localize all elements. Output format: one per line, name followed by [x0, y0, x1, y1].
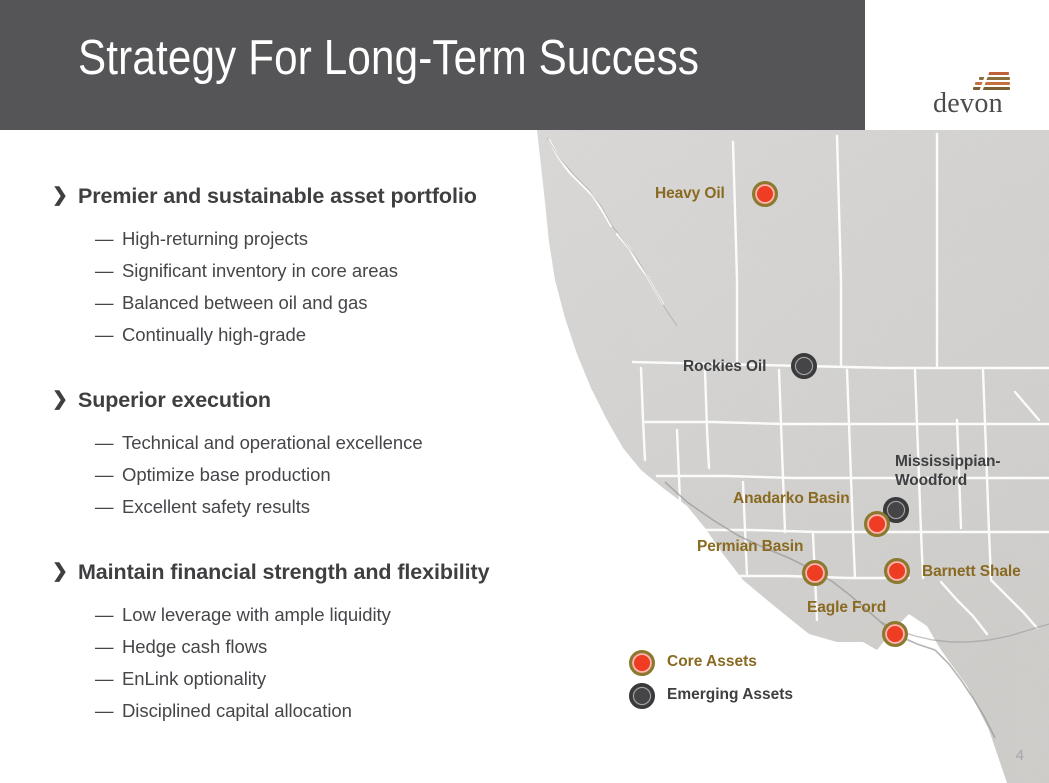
map-marker-heavy-oil[interactable] [752, 181, 778, 207]
list-item-label: Low leverage with ample liquidity [122, 604, 391, 625]
map-label-eagle-ford: Eagle Ford [807, 598, 886, 617]
list-item-label: Hedge cash flows [122, 636, 267, 657]
bullet-sublist: — Low leverage with ample liquidity — He… [0, 599, 545, 727]
asset-map: Heavy Oil Rockies Oil Mississippian- Woo… [537, 130, 1049, 783]
list-item-label: Technical and operational excellence [122, 432, 423, 453]
dash-icon: — [95, 223, 111, 255]
legend-label-core-assets: Core Assets [667, 651, 757, 672]
map-label-permian-basin: Permian Basin [697, 537, 803, 556]
core-asset-marker-icon [629, 650, 655, 676]
emerging-asset-marker-icon [629, 683, 655, 709]
map-marker-eagle-ford[interactable] [882, 621, 908, 647]
map-marker-rockies-oil[interactable] [791, 353, 817, 379]
map-label-barnett-shale: Barnett Shale [922, 562, 1021, 581]
map-label-heavy-oil: Heavy Oil [655, 184, 725, 203]
brand-logo: devon [865, 62, 1049, 130]
bullet-group-superior-execution: ❯ Superior execution — Technical and ope… [0, 386, 545, 523]
bullet-sublist: — Technical and operational excellence —… [0, 427, 545, 523]
list-item-label: Disciplined capital allocation [122, 700, 352, 721]
map-label-woodford: Woodford [895, 471, 967, 490]
dash-icon: — [95, 319, 111, 351]
chevron-right-icon: ❯ [52, 182, 68, 210]
dash-icon: — [95, 459, 111, 491]
dash-icon: — [95, 255, 111, 287]
chevron-right-icon: ❯ [52, 558, 68, 586]
page-number: 4 [1016, 747, 1024, 765]
list-item: — Low leverage with ample liquidity [0, 599, 545, 631]
list-item-label: High-returning projects [122, 228, 308, 249]
dash-icon: — [95, 287, 111, 319]
list-item: — High-returning projects [0, 223, 545, 255]
dash-icon: — [95, 427, 111, 459]
devon-wordmark: devon [933, 88, 1003, 120]
map-label-rockies-oil: Rockies Oil [683, 357, 766, 376]
bullet-content-column: ❯ Premier and sustainable asset portfoli… [0, 130, 545, 783]
map-label-mississippian: Mississippian- [895, 452, 1000, 471]
chevron-right-icon: ❯ [52, 386, 68, 414]
dash-icon: — [95, 631, 111, 663]
list-item: — Hedge cash flows [0, 631, 545, 663]
list-item-label: Balanced between oil and gas [122, 292, 367, 313]
bullet-heading: ❯ Superior execution [0, 386, 545, 414]
list-item-label: EnLink optionality [122, 668, 266, 689]
bullet-heading: ❯ Maintain financial strength and flexib… [0, 558, 545, 586]
list-item-label: Continually high-grade [122, 324, 306, 345]
bullet-heading-text: Superior execution [78, 388, 271, 412]
legend-label-emerging-assets: Emerging Assets [667, 684, 793, 705]
bullet-group-financial-strength: ❯ Maintain financial strength and flexib… [0, 558, 545, 727]
bullet-heading-text: Maintain financial strength and flexibil… [78, 560, 489, 584]
list-item: — Continually high-grade [0, 319, 545, 351]
bullet-group-premier: ❯ Premier and sustainable asset portfoli… [0, 182, 545, 351]
list-item: — EnLink optionality [0, 663, 545, 695]
list-item: — Optimize base production [0, 459, 545, 491]
list-item-label: Excellent safety results [122, 496, 310, 517]
list-item-label: Significant inventory in core areas [122, 260, 398, 281]
list-item: — Significant inventory in core areas [0, 255, 545, 287]
bullet-heading: ❯ Premier and sustainable asset portfoli… [0, 182, 545, 210]
page-title: Strategy For Long-Term Success [78, 27, 699, 89]
list-item: — Excellent safety results [0, 491, 545, 523]
dash-icon: — [95, 491, 111, 523]
list-item: — Balanced between oil and gas [0, 287, 545, 319]
dash-icon: — [95, 663, 111, 695]
list-item: — Technical and operational excellence [0, 427, 545, 459]
map-marker-permian-basin[interactable] [802, 560, 828, 586]
list-item-label: Optimize base production [122, 464, 331, 485]
bullet-heading-text: Premier and sustainable asset portfolio [78, 184, 477, 208]
list-item: — Disciplined capital allocation [0, 695, 545, 727]
map-marker-anadarko-basin[interactable] [864, 511, 890, 537]
map-label-anadarko-basin: Anadarko Basin [733, 489, 850, 508]
bullet-sublist: — High-returning projects — Significant … [0, 223, 545, 351]
dash-icon: — [95, 695, 111, 727]
map-marker-barnett-shale[interactable] [884, 558, 910, 584]
dash-icon: — [95, 599, 111, 631]
